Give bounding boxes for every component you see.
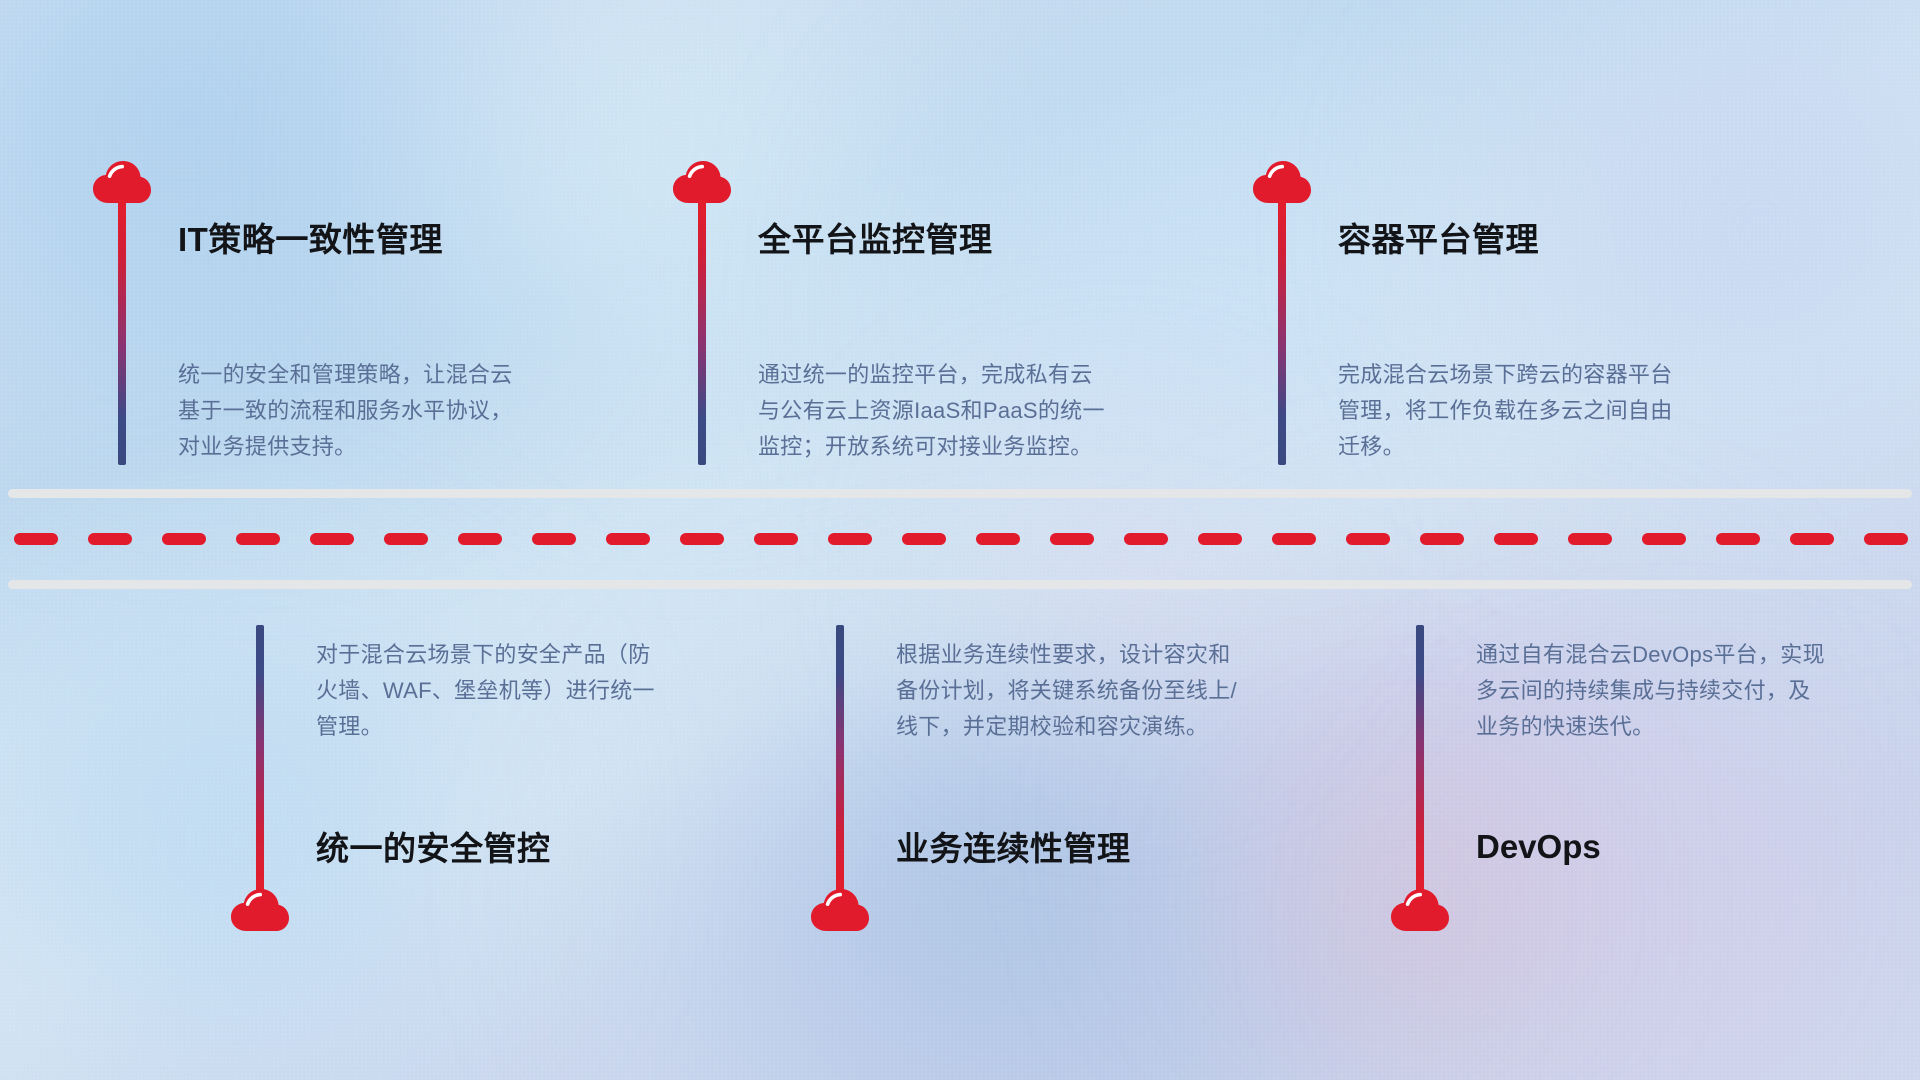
- divider-dash: [1346, 533, 1390, 545]
- divider-dash: [1198, 533, 1242, 545]
- divider-dash: [88, 533, 132, 545]
- divider-dash: [828, 533, 872, 545]
- connector-line: [836, 625, 844, 891]
- divider-dashes: [0, 533, 1920, 545]
- top-item-description: 完成混合云场景下跨云的容器平台管理，将工作负载在多云之间自由迁移。: [1338, 357, 1693, 465]
- divider-dash: [1642, 533, 1686, 545]
- top-item-description: 通过统一的监控平台，完成私有云与公有云上资源IaaS和PaaS的统一监控；开放系…: [758, 357, 1113, 465]
- divider-dash: [902, 533, 946, 545]
- divider-dash: [1272, 533, 1316, 545]
- divider-dash: [606, 533, 650, 545]
- divider-rail-bottom: [8, 580, 1912, 589]
- cloud-icon: [810, 888, 870, 932]
- divider-dash: [14, 533, 58, 545]
- divider-dash: [162, 533, 206, 545]
- infographic-canvas: IT策略一致性管理 统一的安全和管理策略，让混合云基于一致的流程和服务水平协议，…: [0, 0, 1920, 1080]
- bottom-item-description: 根据业务连续性要求，设计容灾和备份计划，将关键系统备份至线上/线下，并定期校验和…: [896, 637, 1251, 745]
- divider-dash: [680, 533, 724, 545]
- divider-dash: [976, 533, 1020, 545]
- divider-dash: [1124, 533, 1168, 545]
- divider-dash: [1420, 533, 1464, 545]
- divider-dash: [1494, 533, 1538, 545]
- cloud-icon: [92, 160, 152, 204]
- top-item-title: 容器平台管理: [1338, 223, 1539, 256]
- divider-dash: [754, 533, 798, 545]
- divider-dash: [1568, 533, 1612, 545]
- divider-dash: [532, 533, 576, 545]
- connector-line: [256, 625, 264, 891]
- cloud-icon: [230, 888, 290, 932]
- divider-dash: [1716, 533, 1760, 545]
- cloud-icon: [672, 160, 732, 204]
- cloud-icon: [1390, 888, 1450, 932]
- connector-line: [118, 200, 126, 465]
- divider-dash: [1790, 533, 1834, 545]
- divider: [0, 489, 1920, 589]
- connector-line: [1278, 200, 1286, 465]
- top-item-title: 全平台监控管理: [758, 223, 993, 256]
- divider-dash: [310, 533, 354, 545]
- divider-rail-top: [8, 489, 1912, 498]
- divider-dash: [236, 533, 280, 545]
- connector-line: [698, 200, 706, 465]
- connector-line: [1416, 625, 1424, 891]
- bottom-item-title: 统一的安全管控: [316, 832, 551, 865]
- bottom-item-description: 对于混合云场景下的安全产品（防火墙、WAF、堡垒机等）进行统一管理。: [316, 637, 671, 745]
- cloud-icon: [1252, 160, 1312, 204]
- bottom-item-title: DevOps: [1476, 830, 1601, 863]
- bottom-item-description: 通过自有混合云DevOps平台，实现多云间的持续集成与持续交付，及业务的快速迭代…: [1476, 637, 1831, 745]
- divider-dash: [458, 533, 502, 545]
- divider-dash: [384, 533, 428, 545]
- top-item-title: IT策略一致性管理: [178, 223, 443, 256]
- top-item-description: 统一的安全和管理策略，让混合云基于一致的流程和服务水平协议，对业务提供支持。: [178, 357, 533, 465]
- bottom-item-title: 业务连续性管理: [896, 832, 1131, 865]
- divider-dash: [1864, 533, 1908, 545]
- divider-dash: [1050, 533, 1094, 545]
